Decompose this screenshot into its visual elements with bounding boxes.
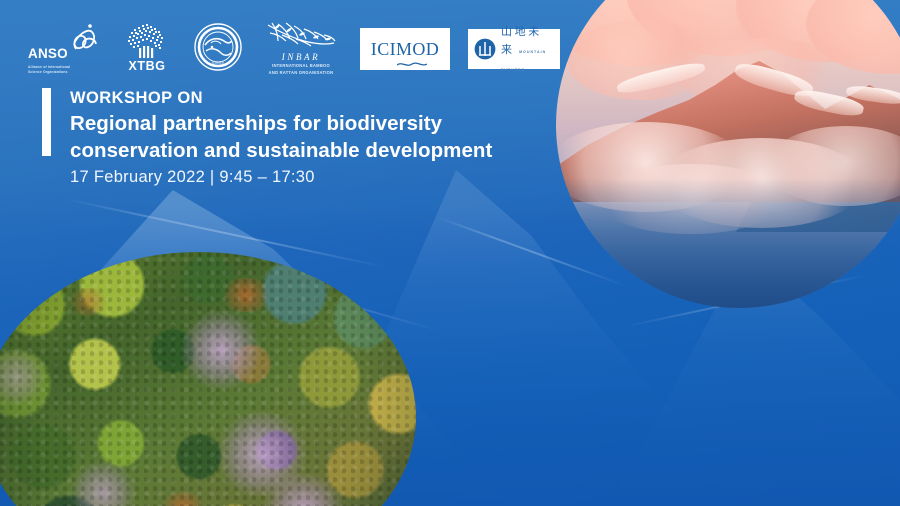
canopy-vignette bbox=[0, 252, 416, 506]
inbar-wordmark: INBAR bbox=[260, 52, 342, 62]
anso-subtitle: Alliance of InternationalScience Organiz… bbox=[28, 65, 100, 75]
headline-line-2: conservation and sustainable development bbox=[70, 137, 492, 164]
logo-inbar: INBAR INTERNATIONAL BAMBOOAND RATTAN ORG… bbox=[260, 22, 342, 76]
bamboo-branch-mark bbox=[264, 21, 338, 53]
logo-mountain-futures: 山地未来 MOUNTAIN FUTURES bbox=[468, 29, 560, 69]
logo-seal: SCIENCE bbox=[194, 25, 242, 73]
icimod-lockup: ICIMOD bbox=[371, 39, 439, 60]
forest-photo-circle bbox=[0, 252, 416, 506]
partner-logo-strip: ANSO Alliance of InternationalScience Or… bbox=[28, 22, 560, 76]
mountain-futures-lockup: 山地未来 MOUNTAIN FUTURES bbox=[501, 22, 554, 76]
workshop-headline: Regional partnerships for biodiversity c… bbox=[70, 110, 492, 164]
svg-text:SCIENCE: SCIENCE bbox=[212, 61, 225, 65]
event-date-time: 17 February 2022 | 9:45 – 17:30 bbox=[70, 168, 315, 187]
pixelated-tree-mark bbox=[124, 23, 170, 59]
title-text-group: WORKSHOP ON Regional partnerships for bi… bbox=[70, 88, 492, 164]
mountain-base-shadow bbox=[556, 178, 900, 308]
workshop-kicker: WORKSHOP ON bbox=[70, 88, 492, 109]
anso-infinity-leaf-mark bbox=[70, 23, 100, 57]
xtbg-wordmark: XTBG bbox=[118, 59, 176, 73]
wave-underline-mark bbox=[397, 55, 427, 62]
logo-anso: ANSO Alliance of InternationalScience Or… bbox=[28, 23, 100, 75]
inbar-subtitle: INTERNATIONAL BAMBOOAND RATTAN ORGANISAT… bbox=[260, 63, 342, 76]
mountain-photo-circle bbox=[556, 0, 900, 308]
anso-wordmark: ANSO bbox=[28, 46, 68, 61]
headline-line-1: Regional partnerships for biodiversity bbox=[70, 110, 492, 137]
logo-xtbg: XTBG bbox=[118, 23, 176, 75]
title-accent-bar bbox=[42, 88, 51, 156]
event-banner: ANSO Alliance of InternationalScience Or… bbox=[0, 0, 900, 506]
title-block: WORKSHOP ON Regional partnerships for bi… bbox=[42, 88, 492, 164]
mountain-badge-mark bbox=[474, 38, 496, 60]
circular-seal-mark: SCIENCE bbox=[194, 23, 242, 76]
logo-icimod: ICIMOD bbox=[360, 28, 450, 70]
